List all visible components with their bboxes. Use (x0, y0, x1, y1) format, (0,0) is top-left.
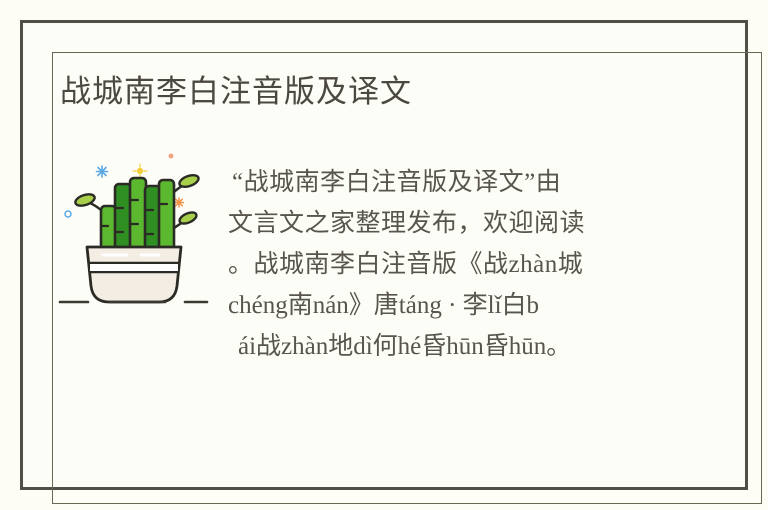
sparkle-dot-peach-icon (169, 154, 174, 159)
page-content: 战城南李白注音版及译文 (0, 0, 768, 510)
body-line: chéng南nán》唐táng · 李lǐ白b (228, 285, 728, 326)
sparkle-orange-icon (175, 198, 184, 207)
body-line: 。战城南李白注音版《战zhàn城 (228, 244, 728, 285)
sparkle-dot-yellow-icon (133, 164, 147, 178)
page-title: 战城南李白注音版及译文 (60, 66, 412, 111)
body-line: 文言文之家整理发布，欢迎阅读 (228, 203, 728, 244)
article-body: “战城南李白注音版及译文”由 文言文之家整理发布，欢迎阅读 。战城南李白注音版《… (228, 162, 728, 402)
sparkle-snowflake-icon (97, 166, 108, 177)
plant-pot (87, 247, 181, 302)
body-line: “战城南李白注音版及译文”由 (232, 162, 728, 203)
body-line: ái战zhàn地dì何hé昏hūn昏hūn。 (238, 326, 728, 367)
sparkle-dot-blue-icon (65, 211, 71, 217)
potted-bamboo-plant-illustration (55, 150, 220, 310)
page-root: 战城南李白注音版及译文 (0, 0, 768, 510)
bamboo-stalks (101, 178, 174, 250)
